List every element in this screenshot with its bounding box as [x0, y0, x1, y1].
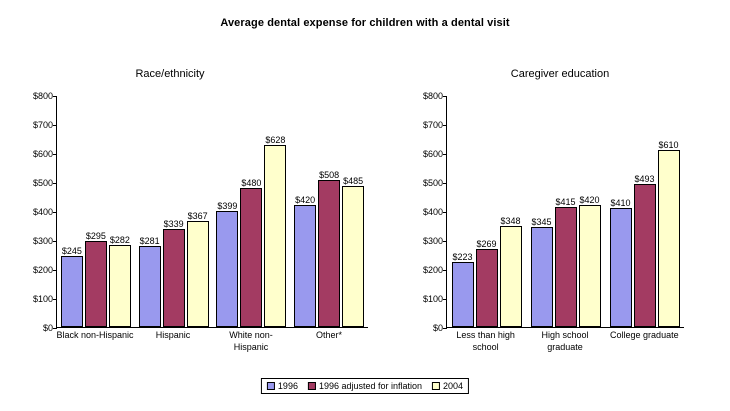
y-tick-label: $300 — [11, 236, 53, 246]
y-tick-label: $100 — [11, 294, 53, 304]
y-tick-label: $400 — [11, 207, 53, 217]
legend-swatch-icon — [308, 382, 316, 390]
y-tick-label: $100 — [401, 294, 443, 304]
bar-value-label: $420 — [295, 195, 315, 205]
y-tick-label: $700 — [11, 120, 53, 130]
x-axis-label: Less than high school — [446, 329, 525, 353]
plot-area-right: $0$100$200$300$400$500$600$700$800 $223$… — [446, 96, 684, 328]
x-axis-labels-left: Black non-HispanicHispanicWhite non-Hisp… — [56, 329, 368, 353]
bar-value-label: $399 — [217, 201, 237, 211]
bar-group: $399$480$628 — [213, 95, 291, 327]
legend-item[interactable]: 1996 adjusted for inflation — [308, 381, 422, 391]
bar-group: $245$295$282 — [57, 95, 135, 327]
bar-s2: $508 — [318, 180, 340, 327]
x-axis-label: Black non-Hispanic — [56, 329, 134, 353]
legend-label: 2004 — [443, 381, 463, 391]
bar-s2: $269 — [476, 249, 498, 327]
bar-group: $281$339$367 — [135, 95, 213, 327]
bar-s3: $282 — [109, 245, 131, 327]
bar-s1: $410 — [610, 208, 632, 327]
bar-value-label: $628 — [265, 135, 285, 145]
bar-value-label: $281 — [140, 236, 160, 246]
panel-race-ethnicity: $0$100$200$300$400$500$600$700$800 $245$… — [56, 96, 368, 328]
bar-s2: $295 — [85, 241, 107, 327]
chart-legend: 19961996 adjusted for inflation2004 — [261, 378, 469, 394]
y-tick-label: $0 — [401, 323, 443, 333]
bar-value-label: $415 — [555, 197, 575, 207]
legend-swatch-icon — [267, 382, 275, 390]
bar-s1: $281 — [139, 246, 161, 327]
bar-s2: $415 — [555, 207, 577, 327]
panel-caregiver-education: $0$100$200$300$400$500$600$700$800 $223$… — [446, 96, 684, 328]
bar-value-label: $493 — [634, 174, 654, 184]
x-axis-label: Hispanic — [134, 329, 212, 353]
y-tick-label: $600 — [11, 149, 53, 159]
legend-label: 1996 — [278, 381, 298, 391]
x-axis-label: Other* — [290, 329, 368, 353]
bar-s2: $480 — [240, 188, 262, 327]
bar-s3: $485 — [342, 186, 364, 327]
bar-groups-left: $245$295$282$281$339$367$399$480$628$420… — [57, 95, 368, 327]
bar-s2: $339 — [163, 229, 185, 327]
plot-area-left: $0$100$200$300$400$500$600$700$800 $245$… — [56, 96, 368, 328]
bar-value-label: $485 — [343, 176, 363, 186]
y-tick-label: $400 — [401, 207, 443, 217]
y-tick-label: $800 — [401, 91, 443, 101]
bar-s1: $399 — [216, 211, 238, 327]
y-tick-label: $800 — [11, 91, 53, 101]
bar-s1: $420 — [294, 205, 316, 327]
bar-s3: $367 — [187, 221, 209, 327]
legend-item[interactable]: 2004 — [432, 381, 463, 391]
bar-group: $223$269$348 — [447, 95, 526, 327]
bar-value-label: $345 — [531, 217, 551, 227]
x-axis-label: High school graduate — [525, 329, 604, 353]
bar-value-label: $508 — [319, 170, 339, 180]
bar-value-label: $348 — [500, 216, 520, 226]
bar-value-label: $295 — [86, 231, 106, 241]
panel-title-caregiver-education: Caregiver education — [430, 68, 690, 80]
bar-s3: $628 — [264, 145, 286, 327]
bar-s1: $345 — [531, 227, 553, 327]
bar-value-label: $282 — [110, 235, 130, 245]
bar-value-label: $367 — [188, 211, 208, 221]
x-axis-label: White non-Hispanic — [212, 329, 290, 353]
bar-groups-right: $223$269$348$345$415$420$410$493$610 — [447, 95, 684, 327]
x-axis-labels-right: Less than high schoolHigh school graduat… — [446, 329, 684, 353]
bar-value-label: $410 — [610, 198, 630, 208]
bar-s3: $420 — [579, 205, 601, 327]
bar-s1: $245 — [61, 256, 83, 327]
bar-value-label: $245 — [62, 246, 82, 256]
bar-value-label: $269 — [476, 239, 496, 249]
bar-value-label: $420 — [579, 195, 599, 205]
x-axis-label: College graduate — [605, 329, 684, 353]
chart-figure: Average dental expense for children with… — [0, 0, 730, 411]
bar-group: $420$508$485 — [290, 95, 368, 327]
bar-group: $345$415$420 — [526, 95, 605, 327]
bar-value-label: $610 — [658, 140, 678, 150]
panel-title-race-ethnicity: Race/ethnicity — [40, 68, 300, 80]
bar-s2: $493 — [634, 184, 656, 327]
chart-title: Average dental expense for children with… — [0, 17, 730, 29]
y-tick-label: $700 — [401, 120, 443, 130]
bar-s3: $348 — [500, 226, 522, 327]
y-tick-label: $600 — [401, 149, 443, 159]
bar-value-label: $223 — [452, 252, 472, 262]
legend-item[interactable]: 1996 — [267, 381, 298, 391]
bar-s1: $223 — [452, 262, 474, 327]
y-tick-label: $0 — [11, 323, 53, 333]
bar-group: $410$493$610 — [605, 95, 684, 327]
y-tick-label: $500 — [401, 178, 443, 188]
legend-label: 1996 adjusted for inflation — [319, 381, 422, 391]
legend-swatch-icon — [432, 382, 440, 390]
bar-s3: $610 — [658, 150, 680, 327]
y-tick-label: $500 — [11, 178, 53, 188]
y-tick-label: $200 — [11, 265, 53, 275]
bar-value-label: $339 — [164, 219, 184, 229]
y-tick-label: $300 — [401, 236, 443, 246]
bar-value-label: $480 — [241, 178, 261, 188]
y-tick-label: $200 — [401, 265, 443, 275]
